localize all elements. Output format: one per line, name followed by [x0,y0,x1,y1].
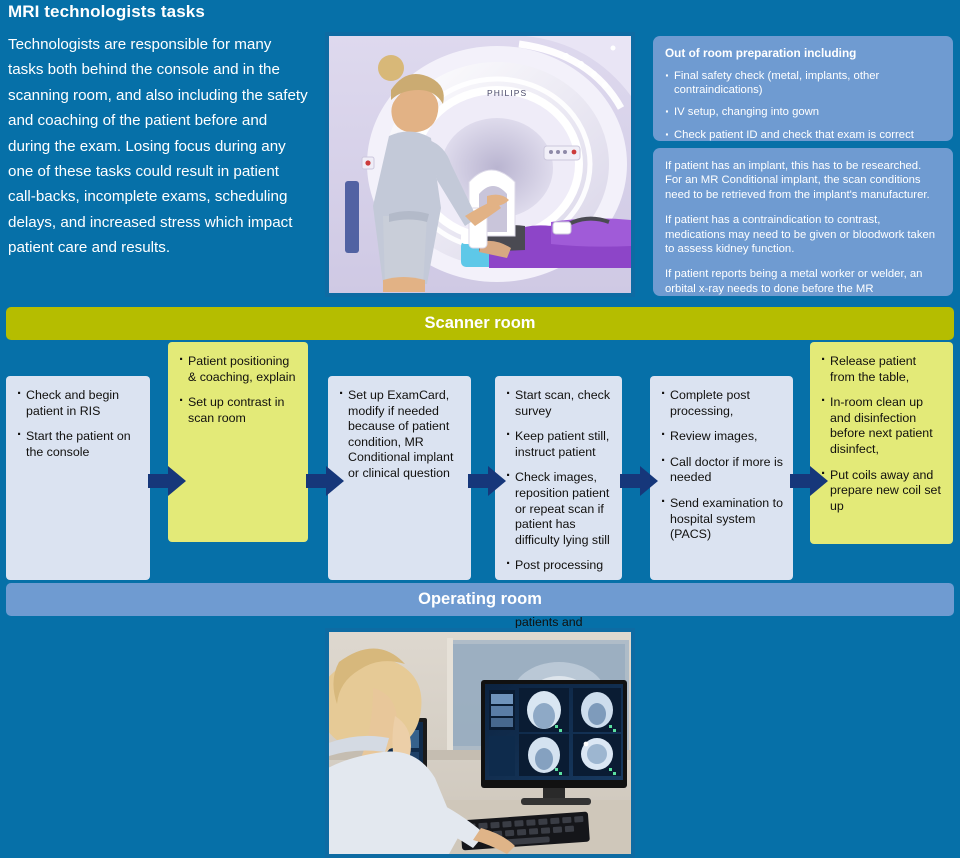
flow-step-check-and-begin[interactable]: Check and begin patient in RIS Start the… [6,376,150,580]
flow-bullet: Send examination to hospital system (PAC… [661,496,783,543]
flow-arrow-5-to-6 [790,466,828,496]
operating-room-bar: Operating room [6,583,954,616]
info-card-title: Out of room preparation including [665,46,941,60]
flow-bullet: Check images, reposition patient or repe… [506,470,612,548]
flow-bullet: Call doctor if more is needed [661,455,783,486]
flow-bullet: Keep patient still, instruct patient [506,429,612,460]
info-paragraph: If patient has a contraindication to con… [665,213,941,256]
flow-bullet: Patient positioning & coaching, explain [179,354,298,385]
scanner-room-bar: Scanner room [6,307,954,340]
flow-bullet: Post processing [506,558,612,574]
flow-step-complete-post-processing[interactable]: Complete post processing, Review images,… [650,376,793,580]
philips-brand-label: PHILIPS [487,88,527,98]
flow-bullet: Review images, [661,429,783,445]
flow-bullet: Set up ExamCard, modify if needed becaus… [339,388,461,482]
infographic-root: MRI technologists tasks Technologists ar… [0,0,960,858]
flow-arrow-2-to-3 [306,466,344,496]
info-bullet: Check patient ID and check that exam is … [665,128,941,142]
flow-arrow-1-to-2 [148,466,186,496]
info-card-patient-conditions-notes: If patient has an implant, this has to b… [653,148,953,296]
flow-bullet: Check and begin patient in RIS [17,388,140,419]
flow-arrow-4-to-5 [620,466,658,496]
console-illustration [329,632,631,854]
page-title: MRI technologists tasks [8,2,308,22]
flow-bullet: Start the patient on the console [17,429,140,460]
flow-bullet: In-room clean up and disinfection before… [821,395,943,457]
info-card-bullet-list: Final safety check (metal, implants, oth… [665,69,941,142]
flow-bullet: Put coils away and prepare new coil set … [821,468,943,515]
info-bullet: Final safety check (metal, implants, oth… [665,69,941,97]
mri-scanner-illustration: PHILIPS [329,36,631,293]
flow-step-release-patient[interactable]: Release patient from the table, In-room … [810,342,953,544]
flow-arrow-3-to-4 [468,466,506,496]
info-paragraph: If patient has an implant, this has to b… [665,159,941,202]
intro-paragraph: Technologists are responsible for many t… [8,32,308,261]
flow-bullet: Complete post processing, [661,388,783,419]
flow-bullet: Release patient from the table, [821,354,943,385]
info-bullet: IV setup, changing into gown [665,105,941,119]
flow-bullet: Start scan, check survey [506,388,612,419]
photo-operating-console [325,628,635,858]
flow-step-patient-positioning[interactable]: Patient positioning & coaching, explain … [168,342,308,542]
photo-mri-scanner-room: PHILIPS [325,32,635,297]
flow-step-start-scan[interactable]: Start scan, check survey Keep patient st… [495,376,622,580]
flow-step-set-up-examcard[interactable]: Set up ExamCard, modify if needed becaus… [328,376,471,580]
info-paragraph: If patient reports being a metal worker … [665,267,941,296]
info-card-out-of-room-preparation: Out of room preparation including Final … [653,36,953,141]
flow-bullet: Set up contrast in scan room [179,395,298,426]
